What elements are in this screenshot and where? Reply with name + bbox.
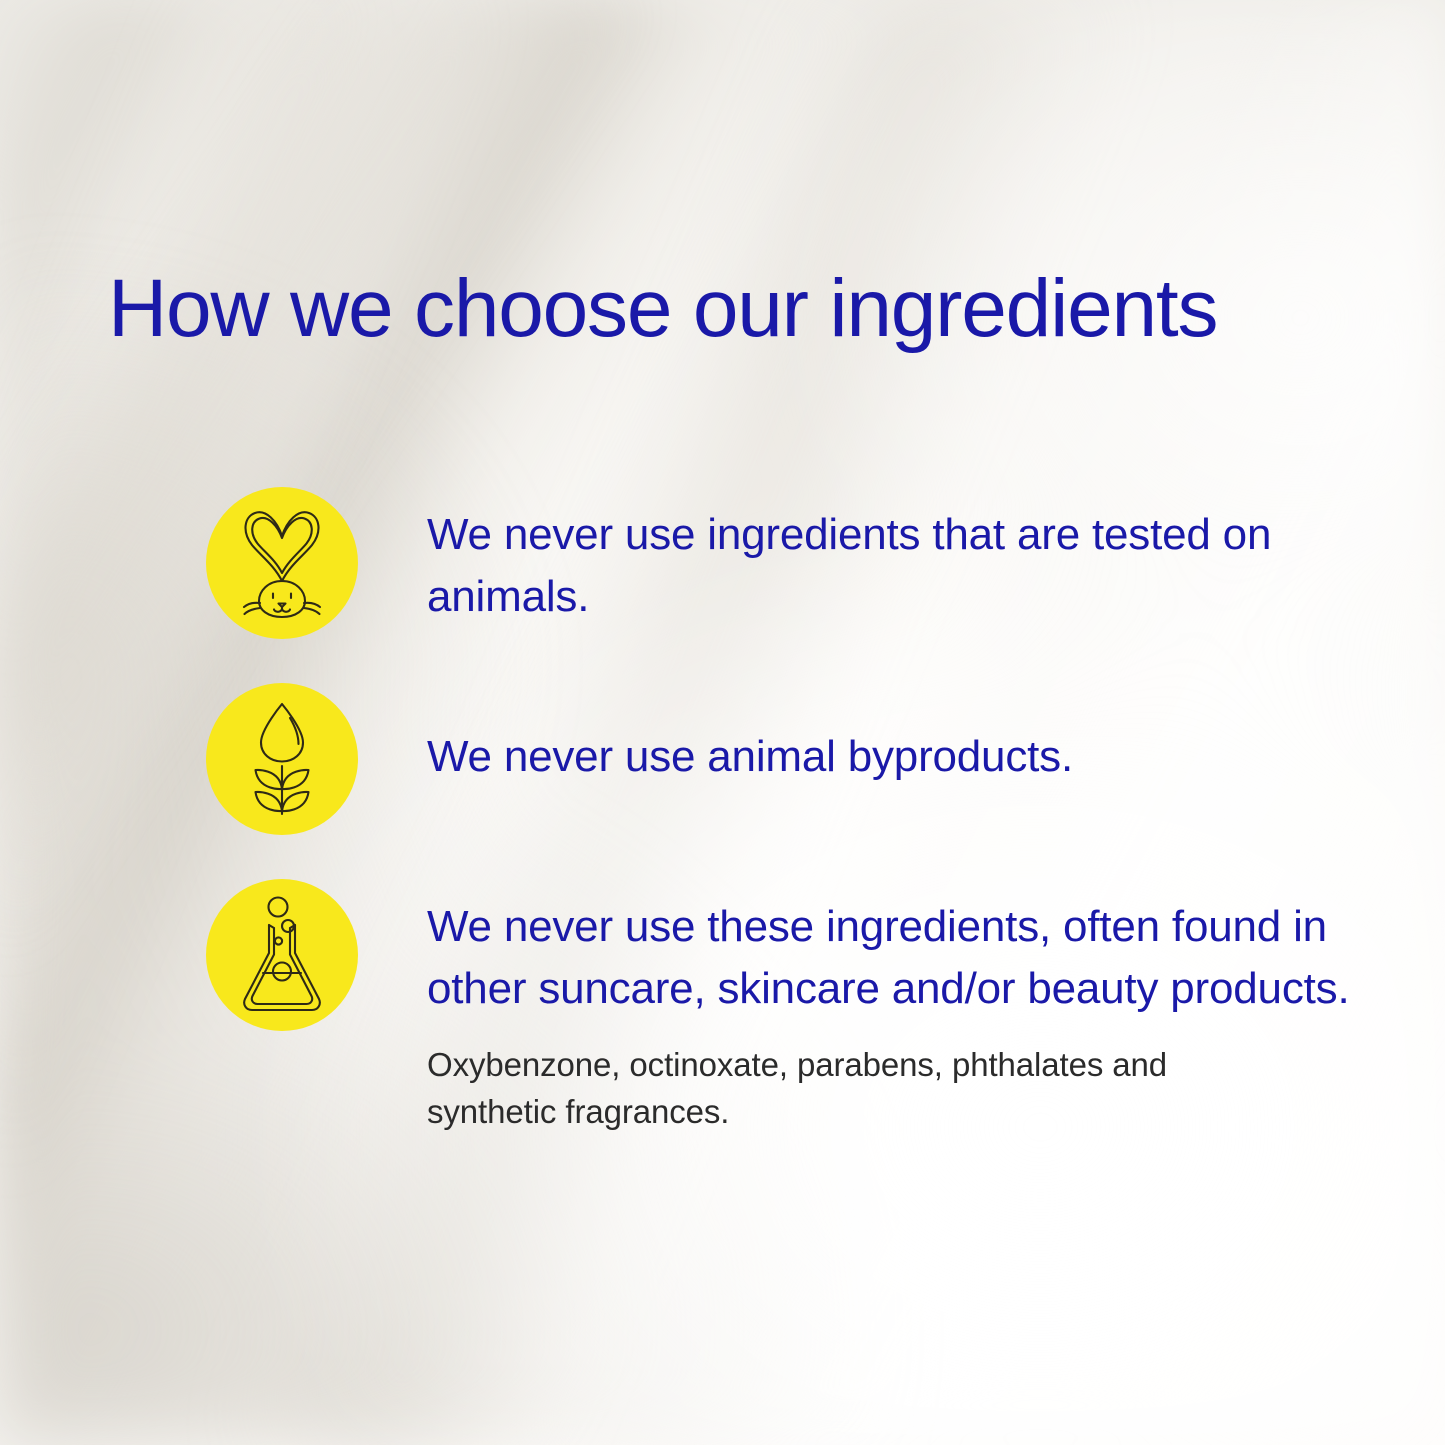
- feature-subtext: Oxybenzone, octinoxate, parabens, phthal…: [427, 1041, 1227, 1136]
- page-title: How we choose our ingredients: [108, 268, 1368, 350]
- content-container: How we choose our ingredients: [0, 0, 1445, 1445]
- feature-text: We never use animal byproducts.: [427, 726, 1386, 788]
- feature-text: We never use these ingredients, often fo…: [427, 896, 1386, 1021]
- icon-badge-cruelty-free: [206, 487, 358, 639]
- feature-text-wrap: We never use ingredients that are tested…: [358, 487, 1386, 629]
- feature-text-wrap: We never use these ingredients, often fo…: [358, 879, 1386, 1136]
- feature-row: We never use these ingredients, often fo…: [206, 879, 1386, 1136]
- feature-row: We never use animal byproducts.: [206, 683, 1386, 835]
- feature-row: We never use ingredients that are tested…: [206, 487, 1386, 639]
- feature-text-wrap: We never use animal byproducts.: [358, 683, 1386, 788]
- icon-badge-vegan: [206, 683, 358, 835]
- infographic-page: How we choose our ingredients: [0, 0, 1445, 1445]
- feature-text: We never use ingredients that are tested…: [427, 504, 1386, 629]
- bunny-heart-ears-icon: [230, 505, 334, 621]
- icon-badge-no-chemicals: [206, 879, 358, 1031]
- plant-droplet-icon: [234, 700, 330, 818]
- flask-bubbles-icon: [233, 895, 331, 1015]
